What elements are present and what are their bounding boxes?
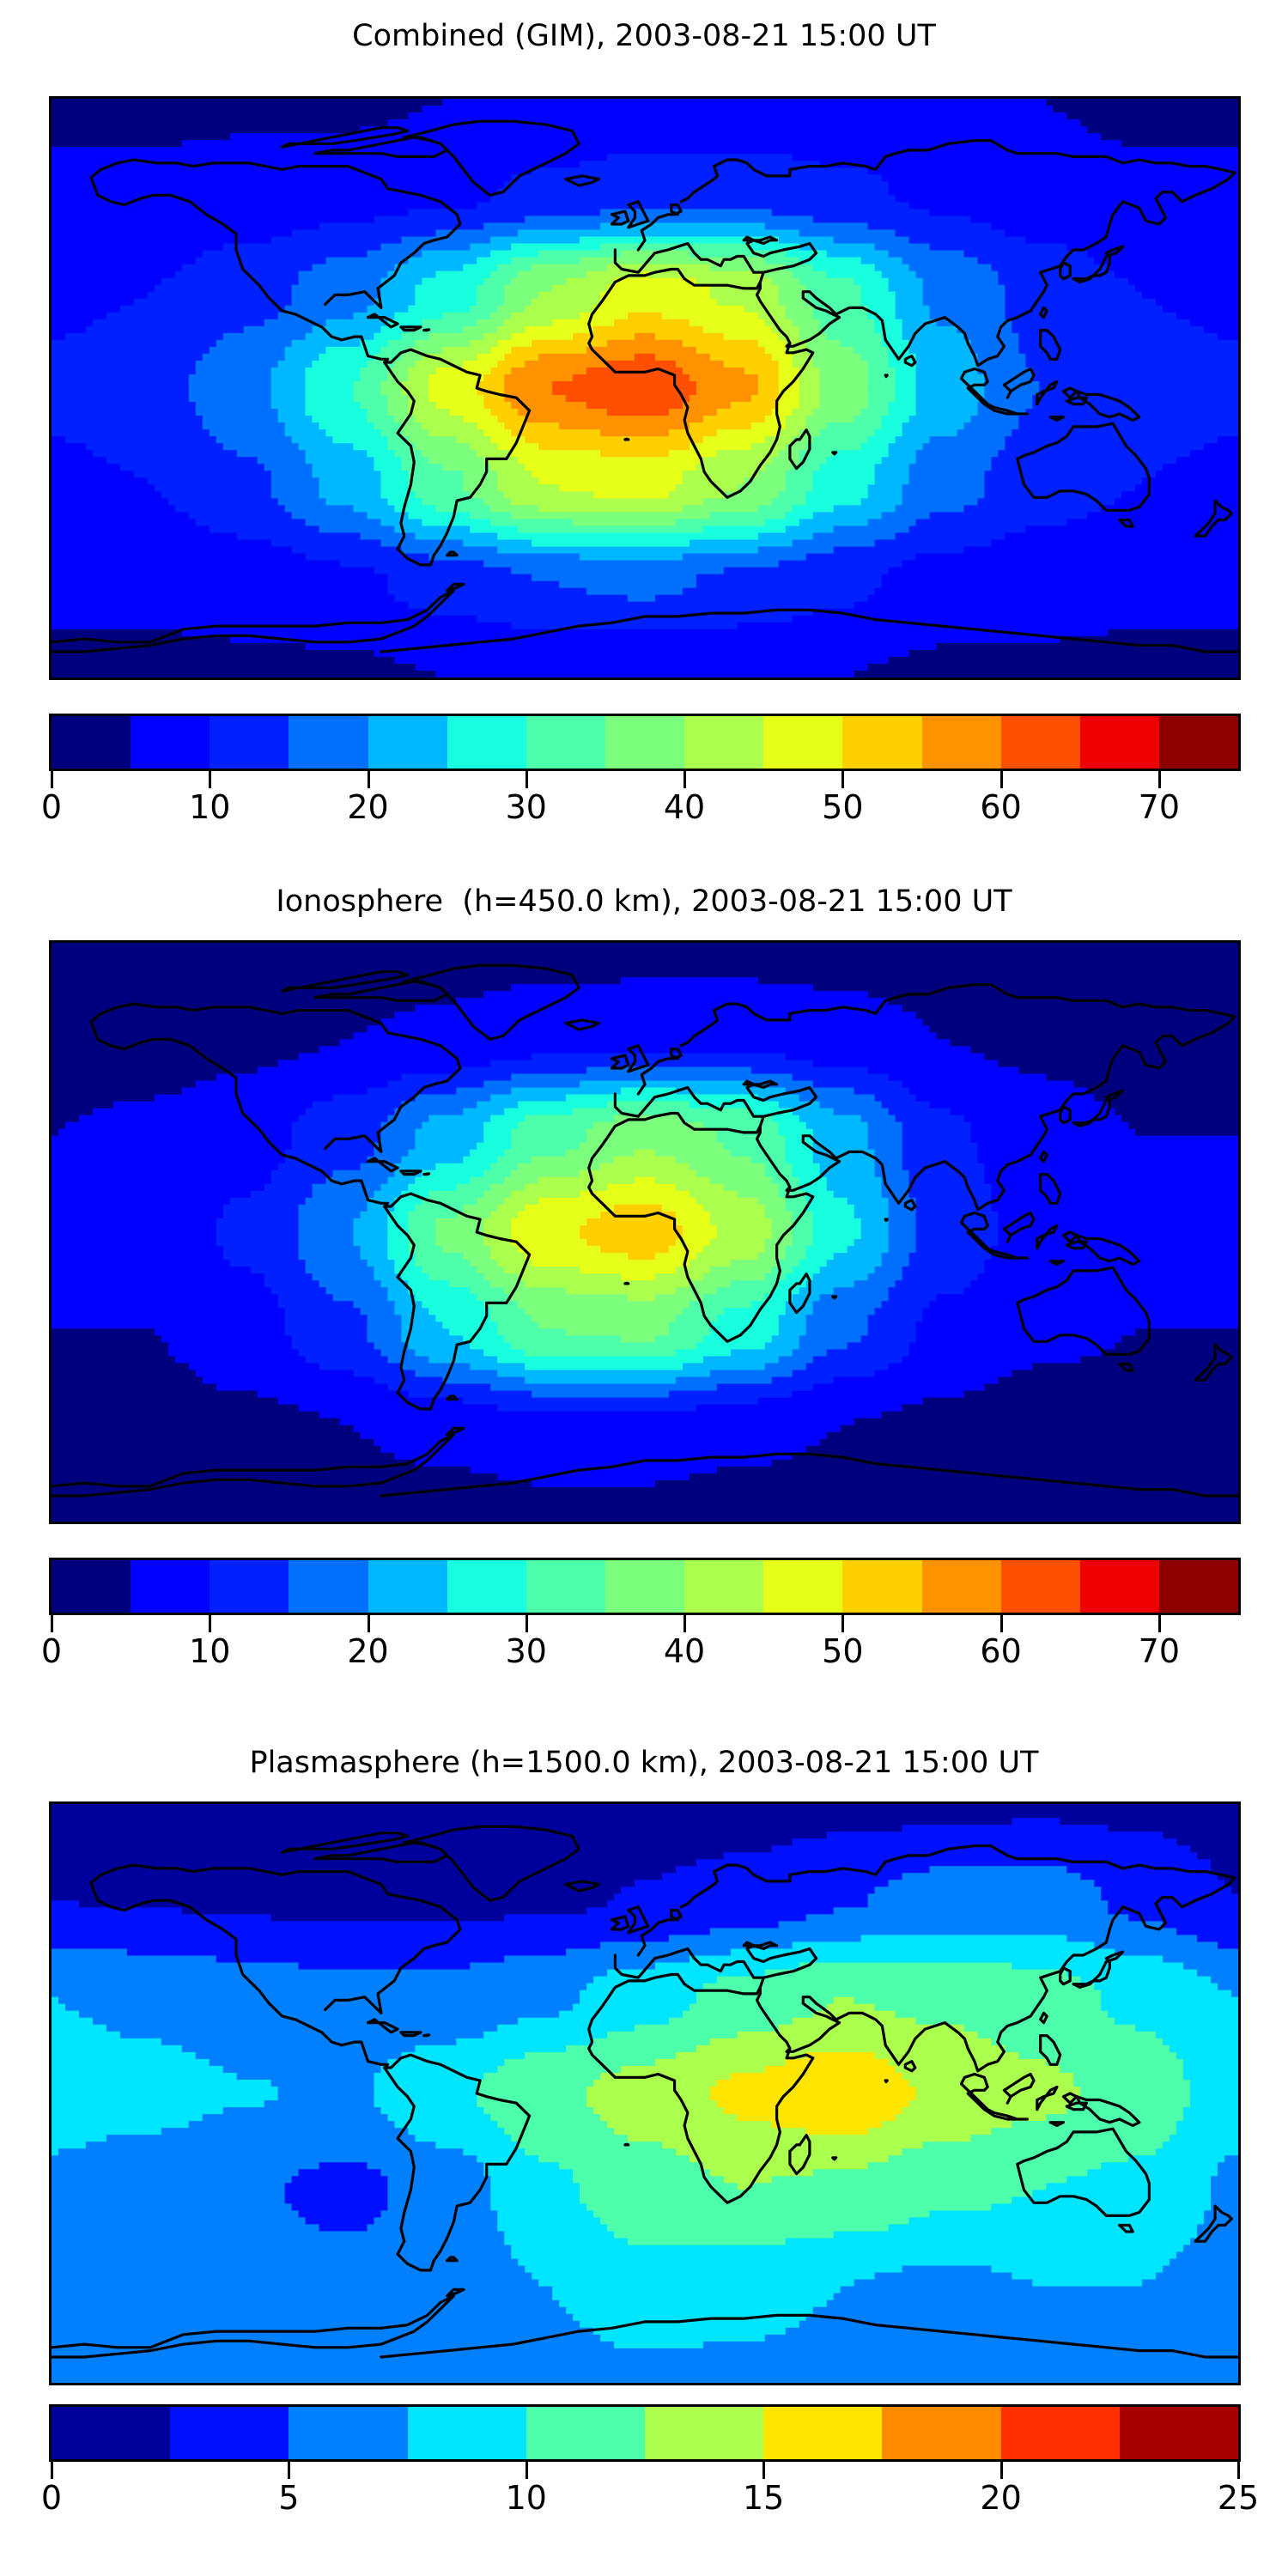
colorbar-tick	[1000, 2462, 1003, 2479]
colorbar-tick-label: 70	[1139, 1632, 1180, 1670]
map-canvas-combined	[52, 99, 1238, 677]
colorbar-tick	[368, 771, 370, 788]
colorbar-band	[763, 1560, 842, 1613]
colorbar-tick	[1237, 2462, 1240, 2479]
colorbar-tick-label: 40	[664, 1632, 705, 1670]
colorbar-ticks-combined	[49, 771, 1241, 788]
colorbar-labels-plasmasphere: 0510152025	[49, 2479, 1241, 2518]
page-title-combined: Combined (GIM), 2003-08-21 15:00 UT	[0, 19, 1288, 53]
colorbar-tick-label: 70	[1139, 788, 1180, 826]
colorbar-tick	[51, 771, 53, 788]
colorbar-band	[52, 1560, 131, 1613]
map-canvas-ionosphere	[52, 943, 1238, 1522]
colorbar-combined: 010203040506070	[49, 714, 1241, 828]
colorbar-tick	[683, 1615, 686, 1632]
tec-maps-figure: Combined (GIM), 2003-08-21 15:00 UT 0102…	[0, 0, 1288, 2576]
colorbar-band	[1001, 1560, 1080, 1613]
colorbar-band	[131, 1560, 210, 1613]
colorbar-band	[1001, 2407, 1120, 2459]
colorbar-band	[210, 1560, 289, 1613]
colorbar-band	[1120, 2407, 1238, 2459]
colorbar-tick	[51, 1615, 53, 1632]
colorbar-tick	[288, 2462, 290, 2479]
colorbar-tick	[1158, 771, 1161, 788]
colorbar-band	[52, 716, 131, 769]
colorbar-strip-combined	[49, 714, 1241, 771]
colorbar-ticks-plasmasphere	[49, 2462, 1241, 2479]
colorbar-band	[763, 716, 842, 769]
colorbar-labels-combined: 010203040506070	[49, 788, 1241, 828]
colorbar-band	[922, 716, 1001, 769]
panel-combined-gim: Combined (GIM), 2003-08-21 15:00 UT 0102…	[0, 0, 1288, 850]
colorbar-band	[1080, 1560, 1159, 1613]
colorbar-band	[289, 2407, 407, 2459]
colorbar-tick	[209, 771, 211, 788]
colorbar-tick-label: 30	[506, 1632, 547, 1670]
colorbar-tick	[762, 2462, 765, 2479]
colorbar-band	[1080, 716, 1159, 769]
map-canvas-plasmasphere	[52, 1804, 1238, 2383]
colorbar-ticks-ionosphere	[49, 1615, 1241, 1632]
colorbar-tick-label: 25	[1218, 2479, 1259, 2517]
panel-plasmasphere: Plasmasphere (h=1500.0 km), 2003-08-21 1…	[0, 1728, 1288, 2576]
colorbar-tick	[526, 2462, 528, 2479]
colorbar-band	[52, 2407, 170, 2459]
colorbar-tick-label: 0	[41, 788, 62, 826]
colorbar-tick	[526, 771, 528, 788]
colorbar-band	[842, 1560, 921, 1613]
colorbar-band	[842, 716, 921, 769]
colorbar-tick-label: 10	[189, 788, 230, 826]
colorbar-ionosphere: 010203040506070	[49, 1558, 1241, 1672]
map-combined-gim	[49, 96, 1241, 680]
colorbar-tick-label: 0	[41, 2479, 62, 2517]
colorbar-band	[645, 2407, 763, 2459]
colorbar-band	[368, 1560, 447, 1613]
colorbar-plasmasphere: 0510152025	[49, 2404, 1241, 2518]
colorbar-tick	[1158, 1615, 1161, 1632]
colorbar-band	[526, 1560, 605, 1613]
colorbar-band	[1001, 716, 1080, 769]
colorbar-band	[605, 1560, 684, 1613]
colorbar-band	[882, 2407, 1000, 2459]
colorbar-band	[447, 716, 526, 769]
colorbar-band	[170, 2407, 289, 2459]
colorbar-tick	[1000, 771, 1003, 788]
colorbar-tick	[841, 1615, 844, 1632]
colorbar-band	[408, 2407, 526, 2459]
colorbar-band	[447, 1560, 526, 1613]
panel-ionosphere: Ionosphere (h=450.0 km), 2003-08-21 15:0…	[0, 866, 1288, 1716]
colorbar-band	[1159, 1560, 1238, 1613]
colorbar-band	[922, 1560, 1001, 1613]
colorbar-tick-label: 50	[822, 1632, 863, 1670]
colorbar-tick-label: 30	[506, 788, 547, 826]
colorbar-tick-label: 60	[980, 1632, 1021, 1670]
colorbar-tick-label: 60	[980, 788, 1021, 826]
colorbar-tick-label: 5	[278, 2479, 299, 2517]
colorbar-band	[210, 716, 289, 769]
colorbar-band	[131, 716, 210, 769]
colorbar-tick	[51, 2462, 53, 2479]
colorbar-band	[526, 716, 605, 769]
colorbar-band	[605, 716, 684, 769]
colorbar-band	[289, 1560, 368, 1613]
colorbar-tick-label: 50	[822, 788, 863, 826]
colorbar-tick	[841, 771, 844, 788]
colorbar-tick-label: 10	[189, 1632, 230, 1670]
colorbar-band	[368, 716, 447, 769]
colorbar-band	[684, 716, 763, 769]
page-title-ionosphere: Ionosphere (h=450.0 km), 2003-08-21 15:0…	[0, 884, 1288, 919]
colorbar-strip-plasmasphere	[49, 2404, 1241, 2462]
colorbar-band	[526, 2407, 645, 2459]
colorbar-labels-ionosphere: 010203040506070	[49, 1632, 1241, 1672]
colorbar-tick-label: 20	[980, 2479, 1021, 2517]
colorbar-band	[1159, 716, 1238, 769]
colorbar-band	[763, 2407, 882, 2459]
colorbar-tick-label: 20	[347, 788, 388, 826]
colorbar-band	[684, 1560, 763, 1613]
colorbar-tick-label: 10	[506, 2479, 547, 2517]
map-plasmasphere	[49, 1801, 1241, 2385]
colorbar-band	[289, 716, 368, 769]
colorbar-tick	[209, 1615, 211, 1632]
colorbar-strip-ionosphere	[49, 1558, 1241, 1615]
map-ionosphere	[49, 940, 1241, 1524]
page-title-plasmasphere: Plasmasphere (h=1500.0 km), 2003-08-21 1…	[0, 1746, 1288, 1780]
colorbar-tick-label: 20	[347, 1632, 388, 1670]
colorbar-tick-label: 15	[743, 2479, 784, 2517]
colorbar-tick	[368, 1615, 370, 1632]
colorbar-tick-label: 0	[41, 1632, 62, 1670]
colorbar-tick	[1000, 1615, 1003, 1632]
colorbar-tick	[683, 771, 686, 788]
colorbar-tick	[526, 1615, 528, 1632]
colorbar-tick-label: 40	[664, 788, 705, 826]
